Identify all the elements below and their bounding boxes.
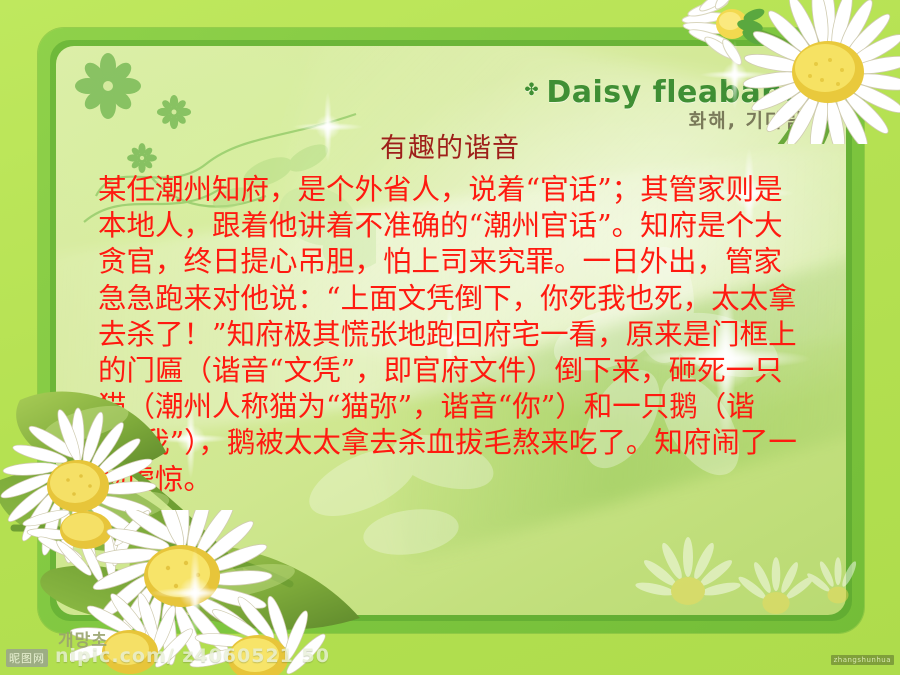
daisy-flower-bottom-right [616, 499, 876, 629]
watermark-badge: zhangshunhua [831, 655, 894, 665]
presentation-slide: ✤ Daisy fleabane 화해, 기다림 有趣的谐音 某任潮州知府，是个… [0, 0, 900, 675]
watermark-group: 昵图网 nipic.com/ z4060521 50 [6, 645, 330, 667]
watermark-url: nipic.com/ z4060521 50 [55, 645, 330, 667]
daisy-flower-top-right [636, 0, 900, 144]
flower-asterisk-icon: ✤ [524, 82, 539, 99]
watermark-logo: 昵图网 [6, 649, 48, 667]
